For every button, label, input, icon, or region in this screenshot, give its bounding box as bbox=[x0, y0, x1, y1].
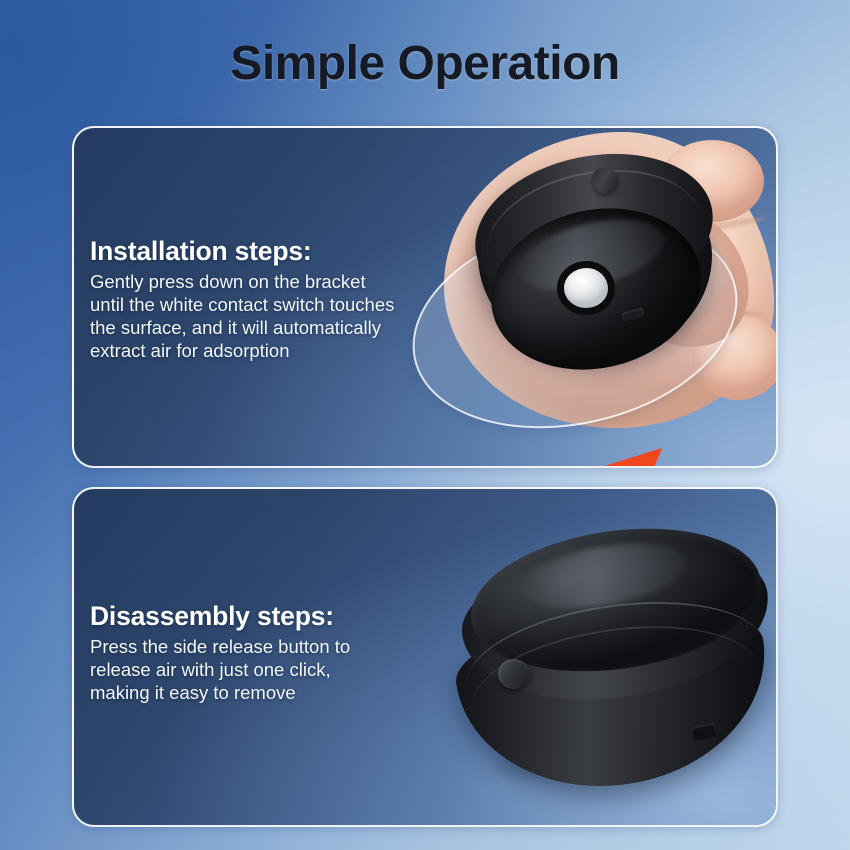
installation-product-photo bbox=[392, 126, 778, 468]
suction-device-bottom-view bbox=[472, 152, 720, 378]
panel-installation: Installation steps: Gently press down on… bbox=[72, 126, 778, 468]
infographic-root: Simple Operation bbox=[0, 0, 850, 850]
callout-arrow-contact-switch bbox=[472, 448, 662, 468]
panel-disassembly: Disassembly steps: Press the side releas… bbox=[72, 487, 778, 827]
installation-body-line-3: the surface, and it will automatically bbox=[90, 317, 420, 340]
disassembly-body: Press the side release button to release… bbox=[90, 636, 390, 705]
side-release-button bbox=[498, 659, 530, 689]
disassembly-body-line-1: Press the side release button to bbox=[90, 636, 390, 659]
installation-heading: Installation steps: bbox=[90, 236, 420, 267]
disassembly-body-line-2: release air with just one click, bbox=[90, 659, 390, 682]
disassembly-text-block: Disassembly steps: Press the side releas… bbox=[90, 601, 390, 705]
installation-body-line-4: extract air for adsorption bbox=[90, 340, 420, 363]
installation-text-block: Installation steps: Gently press down on… bbox=[90, 236, 420, 363]
page-title: Simple Operation bbox=[0, 36, 850, 91]
white-contact-switch bbox=[564, 268, 608, 308]
disassembly-body-line-3: making it easy to remove bbox=[90, 682, 390, 705]
installation-body: Gently press down on the bracket until t… bbox=[90, 271, 420, 363]
installation-body-line-1: Gently press down on the bracket bbox=[90, 271, 420, 294]
suction-device-angled-view bbox=[416, 517, 778, 813]
disassembly-heading: Disassembly steps: bbox=[90, 601, 390, 632]
installation-body-line-2: until the white contact switch touches bbox=[90, 294, 420, 317]
disassembly-product-photo bbox=[416, 517, 778, 813]
